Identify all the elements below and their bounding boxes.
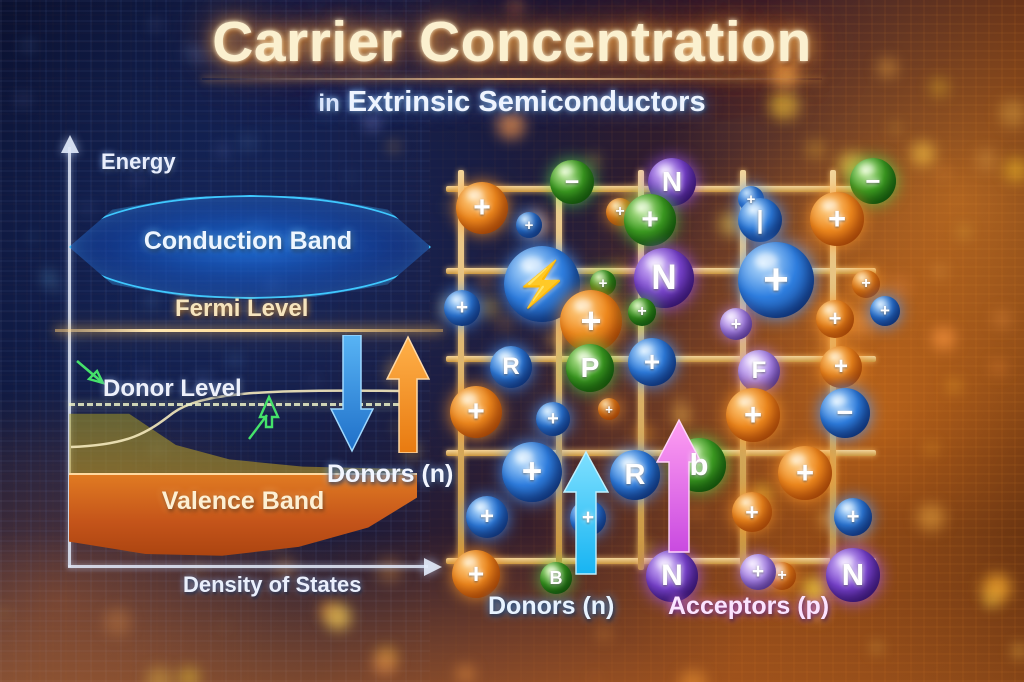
fermi-level-line — [55, 329, 443, 332]
atom-glyph: + — [615, 203, 624, 221]
lattice-atom: − — [550, 160, 594, 204]
donor-level-label: Donor Level — [103, 375, 242, 403]
lattice-atom: + — [516, 212, 542, 238]
lattice-atom: F — [738, 350, 780, 392]
legend: Donors (n) Acceptors (p) — [470, 592, 890, 632]
atom-glyph: + — [861, 275, 870, 293]
lattice-bond-vertical — [458, 170, 464, 570]
lattice-atom: R — [490, 346, 532, 388]
donors-arrow-caption: Donors (n) — [327, 460, 453, 489]
atom-glyph: b — [690, 447, 709, 483]
lattice-bond-vertical — [556, 170, 562, 570]
atom-glyph: N — [661, 559, 683, 593]
crystal-lattice: +−+N+++|−+⚡N+++++++++RP+F+++++−+Rb++++++… — [438, 150, 888, 580]
lattice-atom: − — [820, 388, 870, 438]
lattice-atom: + — [720, 308, 752, 340]
atom-glyph: + — [763, 255, 789, 305]
page-title: Carrier Concentration — [0, 14, 1024, 71]
lattice-atom: + — [816, 300, 854, 338]
lattice-atom: + — [452, 550, 500, 598]
carrier-flow-arrows — [330, 335, 440, 465]
valence-band-label: Valence Band — [69, 487, 417, 516]
lattice-atom: + — [466, 496, 508, 538]
band-diagram: Energy Density of States Conduction Band… — [55, 135, 445, 580]
hole-up-arrow-icon — [386, 335, 430, 453]
title-divider — [202, 78, 822, 80]
atom-glyph: + — [880, 301, 890, 321]
subtitle-text: Extrinsic Semiconductors — [348, 86, 706, 118]
atom-glyph: N — [842, 557, 864, 593]
atom-glyph: + — [547, 408, 559, 431]
atom-glyph: + — [829, 306, 842, 332]
atom-glyph: − — [865, 166, 880, 197]
atom-glyph: + — [644, 346, 660, 378]
atom-glyph: + — [834, 353, 848, 381]
atom-glyph: + — [456, 296, 468, 320]
lattice-atom: + — [732, 492, 772, 532]
title-block: Carrier Concentration in Extrinsic Semic… — [0, 14, 1024, 119]
lattice-atom: + — [740, 554, 776, 590]
atom-glyph: + — [752, 560, 764, 584]
atom-glyph: + — [599, 275, 608, 292]
lattice-atom: + — [624, 194, 676, 246]
atom-glyph: + — [525, 217, 534, 234]
atom-glyph: N — [651, 258, 676, 298]
atom-glyph: − — [565, 168, 580, 197]
atom-glyph: + — [637, 303, 646, 321]
lattice-atom: | — [738, 198, 782, 242]
atom-glyph: + — [605, 402, 613, 417]
lattice-atom: + — [444, 290, 480, 326]
atom-glyph: + — [473, 191, 491, 225]
atom-glyph: B — [550, 568, 563, 589]
lattice-atom: + — [456, 182, 508, 234]
lattice-atom: P — [566, 344, 614, 392]
legend-item-acceptors: Acceptors (p) — [668, 592, 829, 621]
atom-glyph: N — [662, 166, 682, 198]
fermi-level-label: Fermi Level — [175, 295, 308, 323]
page-subtitle: in Extrinsic Semiconductors — [0, 86, 1024, 119]
lattice-atom: + — [726, 388, 780, 442]
atom-glyph: P — [581, 352, 600, 384]
lattice-atom: − — [850, 158, 896, 204]
lattice-atom: + — [450, 386, 502, 438]
subtitle-lead-word: in — [318, 90, 339, 117]
atom-glyph: + — [580, 300, 601, 342]
atom-glyph: ⚡ — [515, 258, 570, 310]
electron-down-arrow-icon — [330, 335, 374, 453]
atom-glyph: + — [480, 503, 494, 531]
donor-ionization-arrow-icon — [245, 393, 287, 441]
atom-glyph: + — [522, 452, 542, 492]
lattice-atom: + — [628, 298, 656, 326]
lattice-atom: + — [778, 446, 832, 500]
atom-glyph: + — [828, 201, 846, 237]
lattice-atom: + — [536, 402, 570, 436]
lattice-atom: + — [810, 192, 864, 246]
atom-glyph: F — [752, 357, 767, 385]
atom-glyph: + — [847, 504, 860, 530]
atom-glyph: + — [796, 455, 814, 491]
atom-glyph: + — [777, 567, 786, 585]
atom-glyph: + — [731, 314, 742, 335]
legend-item-donors: Donors (n) — [488, 592, 614, 621]
lattice-atom: + — [502, 442, 562, 502]
atom-glyph: + — [468, 558, 484, 590]
conduction-band-label: Conduction Band — [69, 227, 427, 256]
lattice-atom: R — [610, 450, 660, 500]
energy-axis-label: Energy — [101, 149, 176, 175]
dos-axis — [68, 565, 428, 568]
lattice-atom: + — [870, 296, 900, 326]
atom-glyph: | — [757, 206, 764, 235]
lattice-atom: + — [820, 346, 862, 388]
atom-glyph: + — [745, 499, 758, 526]
atom-glyph: + — [582, 506, 594, 530]
lattice-atom: + — [852, 270, 880, 298]
atom-glyph: R — [502, 353, 519, 381]
lattice-atom: + — [834, 498, 872, 536]
atom-glyph: − — [837, 397, 854, 430]
atom-glyph: + — [744, 397, 762, 433]
lattice-atom: + — [598, 398, 620, 420]
lattice-atom: + — [628, 338, 676, 386]
dos-axis-label: Density of States — [183, 572, 362, 598]
infographic-canvas: Carrier Concentration in Extrinsic Semic… — [0, 0, 1024, 682]
atom-glyph: + — [467, 395, 485, 429]
acceptor-injection-arrow-icon — [656, 418, 702, 553]
lattice-atom: + — [738, 242, 814, 318]
atom-glyph: + — [641, 203, 659, 237]
atom-glyph: R — [625, 459, 646, 492]
atom-glyph: + — [747, 191, 756, 208]
